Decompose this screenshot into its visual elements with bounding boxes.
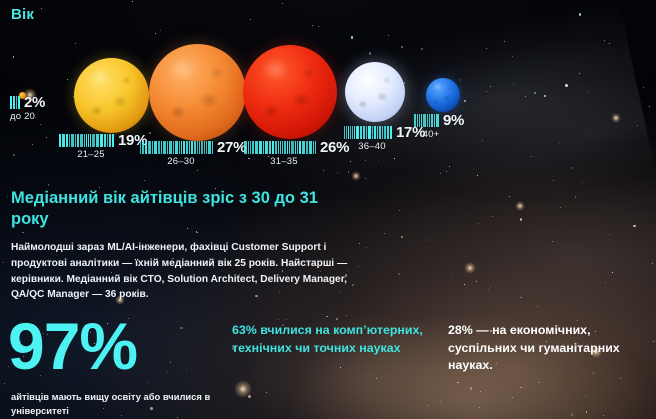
planet-2630 — [149, 44, 246, 141]
headline: Медіанний вік айтівців зріс з 30 до 31 р… — [11, 188, 341, 231]
percent-value: 9% — [443, 114, 464, 127]
age-range-label: 21–25 — [59, 149, 123, 160]
education-big-caption: айтівців мають вищу освіту або вчилися в… — [11, 390, 231, 417]
planet-40+ — [426, 78, 460, 112]
stat-group-0: 2%до 20 — [10, 96, 45, 122]
planet-3640 — [345, 62, 405, 122]
infographic-slide: Вік 2%до 2019%21–2527%26–3026%31–3517%36… — [0, 0, 656, 419]
tick-bar — [414, 114, 439, 127]
stat-group-3: 26%31–35 — [244, 141, 349, 167]
tick-bar — [59, 134, 114, 147]
page-title: Вік — [11, 6, 34, 23]
planet-2125 — [74, 58, 149, 133]
education-big-value: 97% — [8, 313, 137, 379]
tick-bar — [344, 126, 392, 139]
age-range-label: 31–35 — [244, 156, 324, 167]
planet-3135 — [243, 45, 337, 139]
body-paragraph: Наймолодші зараз ML/AI-інженери, фахівці… — [11, 240, 361, 303]
age-range-label: 36–40 — [344, 141, 400, 152]
tick-bar — [140, 141, 213, 154]
stat-group-4: 17%36–40 — [344, 126, 425, 152]
stat-group-1: 19%21–25 — [59, 134, 147, 160]
education-column-technical: 63% вчилися на комп’ютерних, технічних ч… — [232, 322, 432, 357]
tick-bar — [244, 141, 316, 154]
age-range-label: 40+ — [414, 129, 448, 140]
stat-group-5: 9%40+ — [414, 114, 464, 140]
age-range-label: до 20 — [10, 111, 45, 122]
percent-value: 27% — [217, 141, 246, 154]
tick-bar — [10, 96, 20, 109]
education-column-humanities: 28% — на економічних, суспільних чи гума… — [448, 322, 648, 375]
percent-value: 2% — [24, 96, 45, 109]
age-range-label: 26–30 — [140, 156, 222, 167]
stat-group-2: 27%26–30 — [140, 141, 246, 167]
